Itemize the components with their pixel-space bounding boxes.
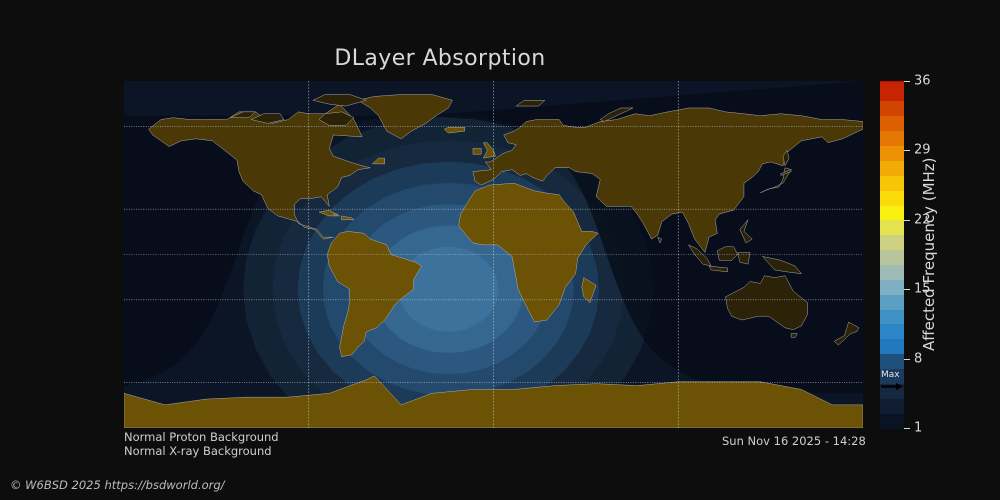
colorbar-tick bbox=[904, 359, 910, 360]
colorbar[interactable]: Max 1815222936 bbox=[880, 81, 904, 428]
colorbar-band bbox=[880, 131, 904, 146]
colorbar-tick bbox=[904, 220, 910, 221]
colorbar-tick bbox=[904, 428, 910, 429]
colorbar-band bbox=[880, 383, 904, 398]
timestamp: Sun Nov 16 2025 - 14:28 bbox=[722, 434, 866, 448]
page-title: DLayer Absorption bbox=[0, 46, 880, 71]
colorbar-band bbox=[880, 101, 904, 116]
dlayer-absorption-map: DLayer Absorption Max 1815222936 Affecte bbox=[0, 0, 1000, 500]
colorbar-band bbox=[880, 175, 904, 190]
map-canvas bbox=[124, 81, 863, 428]
colorbar-band bbox=[880, 413, 904, 428]
world-map[interactable] bbox=[124, 81, 863, 428]
colorbar-band bbox=[880, 279, 904, 294]
colorbar-band bbox=[880, 205, 904, 220]
colorbar-band bbox=[880, 354, 904, 369]
colorbar-tick bbox=[904, 81, 910, 82]
colorbar-band bbox=[880, 264, 904, 279]
xray-status: Normal X-ray Background bbox=[124, 444, 272, 458]
colorbar-band bbox=[880, 160, 904, 175]
colorbar-band bbox=[880, 81, 904, 101]
colorbar-band bbox=[880, 309, 904, 324]
colorbar-tick bbox=[904, 150, 910, 151]
colorbar-band bbox=[880, 339, 904, 354]
copyright-notice: © W6BSD 2025 https://bsdworld.org/ bbox=[10, 478, 225, 492]
colorbar-band bbox=[880, 116, 904, 131]
colorbar-band bbox=[880, 369, 904, 384]
colorbar-axis-label: Affected Frequency (MHz) bbox=[918, 81, 940, 428]
colorbar-band bbox=[880, 220, 904, 235]
proton-status: Normal Proton Background bbox=[124, 430, 279, 444]
landmass bbox=[473, 148, 481, 154]
colorbar-band bbox=[880, 81, 904, 82]
colorbar-tick bbox=[904, 289, 910, 290]
colorbar-gradient bbox=[880, 81, 904, 428]
colorbar-band bbox=[880, 235, 904, 250]
colorbar-band bbox=[880, 324, 904, 339]
colorbar-band bbox=[880, 250, 904, 265]
colorbar-band bbox=[880, 398, 904, 413]
colorbar-band bbox=[880, 294, 904, 309]
colorbar-band bbox=[880, 145, 904, 160]
colorbar-band bbox=[880, 190, 904, 205]
